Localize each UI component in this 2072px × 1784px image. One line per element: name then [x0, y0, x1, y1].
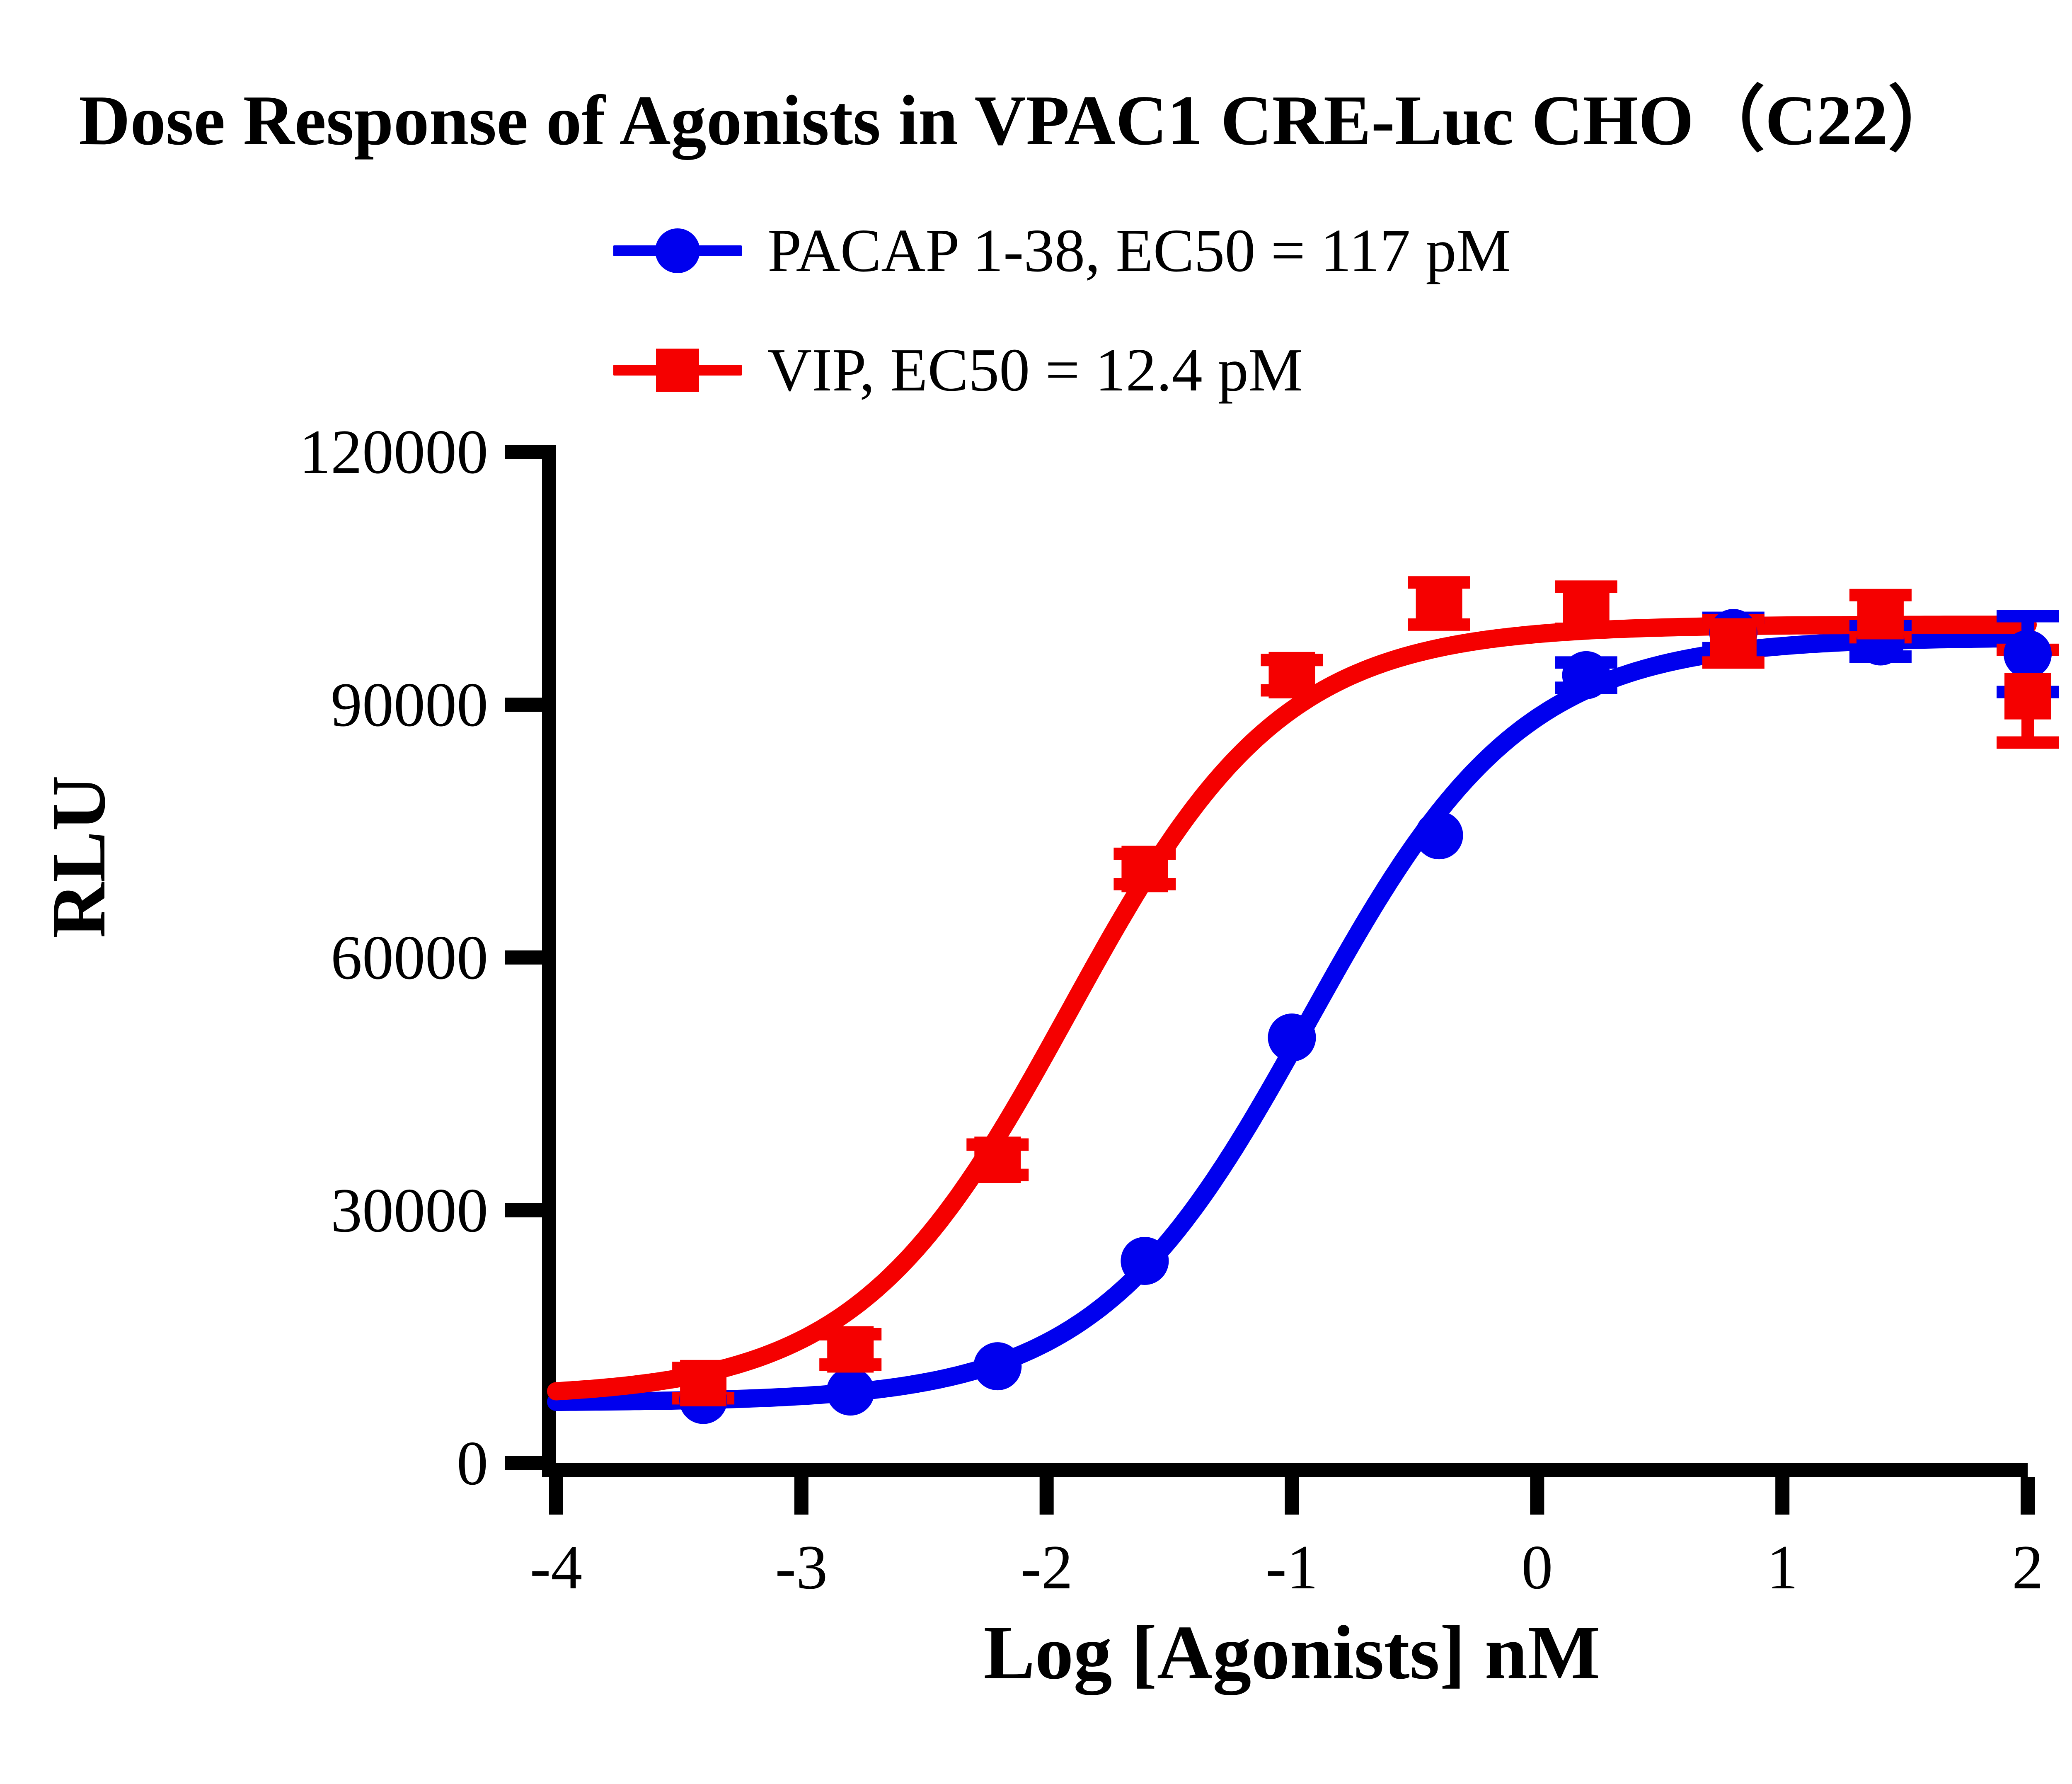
data-point-marker — [1268, 1013, 1316, 1062]
x-axis-tick — [1040, 1477, 1054, 1515]
x-axis-tick — [2021, 1477, 2035, 1515]
data-point-marker — [680, 1360, 726, 1406]
x-axis-tick — [1530, 1477, 1544, 1515]
data-point-marker — [827, 1326, 874, 1373]
data-point-marker — [2004, 673, 2051, 720]
data-point-marker — [1710, 618, 1757, 665]
data-point-marker — [973, 1342, 1021, 1390]
data-point-marker — [1121, 846, 1168, 892]
y-axis-tick — [505, 698, 542, 712]
data-point-marker — [826, 1367, 874, 1416]
error-bar-cap — [1997, 737, 2059, 749]
error-bar-cap — [1997, 610, 2059, 623]
x-axis-tick — [1285, 1477, 1299, 1515]
y-axis-tick — [505, 445, 542, 459]
y-axis-line — [542, 445, 556, 1470]
data-point-marker — [2004, 630, 2052, 678]
fit-curve-vip — [556, 625, 2028, 1391]
data-point-marker — [1269, 652, 1315, 698]
data-point-marker — [974, 1137, 1021, 1183]
y-axis-tick — [505, 1456, 542, 1470]
x-axis-line — [542, 1463, 2028, 1477]
x-axis-tick — [1775, 1477, 1789, 1515]
plot-canvas — [0, 0, 2072, 1784]
data-point-marker — [1416, 580, 1462, 627]
data-point-marker — [1563, 584, 1610, 631]
chart-figure: Dose Response of Agonists in VPAC1 CRE-L… — [0, 0, 2072, 1784]
y-axis-tick — [505, 1203, 542, 1217]
data-point-marker — [1121, 1237, 1169, 1285]
y-axis-tick — [505, 950, 542, 965]
data-point-marker — [1415, 811, 1463, 859]
x-axis-tick — [549, 1477, 563, 1515]
x-axis-tick — [794, 1477, 808, 1515]
data-point-marker — [1857, 593, 1904, 640]
data-point-marker — [1562, 651, 1610, 699]
